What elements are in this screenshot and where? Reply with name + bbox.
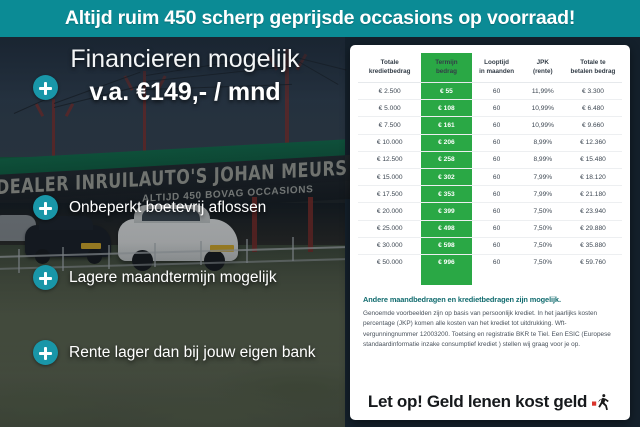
cell-credit-amount: € 7.500 bbox=[358, 117, 421, 134]
table-head: TotalekredietbedragTermijnbedragLooptijd… bbox=[358, 53, 622, 83]
table-row: € 50.000€ 996607,50%€ 59.760 bbox=[358, 254, 622, 271]
table-row: € 17.500€ 353607,99%€ 21.180 bbox=[358, 186, 622, 203]
cell-monthly-amount: € 206 bbox=[421, 134, 471, 151]
cell-total-payable: € 21.180 bbox=[564, 186, 622, 203]
table-col-header-1: Totalekredietbedrag bbox=[358, 53, 421, 83]
plus-icon bbox=[33, 195, 58, 220]
cell-monthly-amount: € 399 bbox=[421, 203, 471, 220]
cell-apr: 8,99% bbox=[522, 134, 564, 151]
table-row: € 5.000€ 1086010,99%€ 6.480 bbox=[358, 100, 622, 117]
cell-term-months: 60 bbox=[472, 254, 522, 271]
cell-monthly-amount: € 108 bbox=[421, 100, 471, 117]
table-col-header-5: Totale tebetalen bedrag bbox=[564, 53, 622, 83]
cell-total-payable: € 35.880 bbox=[564, 237, 622, 254]
cell-term-months: 60 bbox=[472, 237, 522, 254]
table-row: € 20.000€ 399607,50%€ 23.940 bbox=[358, 203, 622, 220]
table-col-header-4: JPK(rente) bbox=[522, 53, 564, 83]
cell-credit-amount: € 50.000 bbox=[358, 254, 421, 271]
cell-total-payable: € 29.880 bbox=[564, 220, 622, 237]
benefit-item-3: Rente lager dan bij jouw eigen bank bbox=[33, 340, 315, 365]
cell-term-months: 60 bbox=[472, 186, 522, 203]
cell-total-payable: € 59.760 bbox=[564, 254, 622, 271]
cell-monthly-amount: € 598 bbox=[421, 237, 471, 254]
left-content-panel: Financieren mogelijk v.a. €149,- / mnd O… bbox=[0, 37, 345, 427]
loan-rates-card: TotalekredietbedragTermijnbedragLooptijd… bbox=[350, 45, 630, 420]
cell-credit-amount: € 30.000 bbox=[358, 237, 421, 254]
promo-banner: Altijd ruim 450 scherp geprijsde occasio… bbox=[0, 0, 640, 37]
cell-monthly-amount: € 258 bbox=[421, 151, 471, 168]
cell-apr: 7,99% bbox=[522, 186, 564, 203]
headline-line-1: Financieren mogelijk bbox=[30, 45, 340, 74]
benefit-item-1: Onbeperkt boetevrij aflossen bbox=[33, 195, 266, 220]
benefit-label-3: Rente lager dan bij jouw eigen bank bbox=[69, 344, 315, 362]
benefit-label-1: Onbeperkt boetevrij aflossen bbox=[69, 199, 266, 217]
cell-total-payable: € 6.480 bbox=[564, 100, 622, 117]
cell-credit-amount: € 2.500 bbox=[358, 83, 421, 100]
cell-term-months: 60 bbox=[472, 151, 522, 168]
table-header-row: TotalekredietbedragTermijnbedragLooptijd… bbox=[358, 53, 622, 83]
cell-total-payable: € 9.660 bbox=[564, 117, 622, 134]
cell-credit-amount: € 10.000 bbox=[358, 134, 421, 151]
loan-rates-table: TotalekredietbedragTermijnbedragLooptijd… bbox=[358, 53, 622, 271]
footnote-body: Genoemde voorbeelden zijn op basis van p… bbox=[363, 309, 617, 351]
cell-apr: 7,50% bbox=[522, 203, 564, 220]
table-row: € 25.000€ 498607,50%€ 29.880 bbox=[358, 220, 622, 237]
plus-icon bbox=[33, 265, 58, 290]
table-row: € 30.000€ 598607,50%€ 35.880 bbox=[358, 237, 622, 254]
cell-apr: 7,50% bbox=[522, 220, 564, 237]
cell-term-months: 60 bbox=[472, 117, 522, 134]
benefit-item-2: Lagere maandtermijn mogelijk bbox=[33, 265, 277, 290]
col-header-line1: Totale bbox=[381, 59, 399, 66]
cell-monthly-amount: € 55 bbox=[421, 83, 471, 100]
cell-monthly-amount: € 353 bbox=[421, 186, 471, 203]
cell-term-months: 60 bbox=[472, 220, 522, 237]
cell-total-payable: € 23.940 bbox=[564, 203, 622, 220]
table-col-header-2: Termijnbedrag bbox=[421, 53, 471, 83]
cell-credit-amount: € 15.000 bbox=[358, 168, 421, 185]
cell-total-payable: € 15.480 bbox=[564, 151, 622, 168]
cell-monthly-amount: € 498 bbox=[421, 220, 471, 237]
col-header-line2: in maanden bbox=[479, 68, 514, 75]
cell-credit-amount: € 12.500 bbox=[358, 151, 421, 168]
headline-block: Financieren mogelijk v.a. €149,- / mnd bbox=[30, 45, 340, 108]
highlight-column-tail bbox=[421, 271, 471, 285]
cell-apr: 7,99% bbox=[522, 168, 564, 185]
cell-term-months: 60 bbox=[472, 134, 522, 151]
col-header-line1: Looptijd bbox=[484, 59, 509, 66]
table-row: € 7.500€ 1616010,99%€ 9.660 bbox=[358, 117, 622, 134]
cell-monthly-amount: € 161 bbox=[421, 117, 471, 134]
benefit-label-2: Lagere maandtermijn mogelijk bbox=[69, 269, 277, 287]
legal-warning: Let op! Geld lenen kost geld bbox=[350, 392, 630, 412]
running-man-exit-icon bbox=[592, 393, 612, 411]
cell-apr: 10,99% bbox=[522, 100, 564, 117]
cell-apr: 10,99% bbox=[522, 117, 564, 134]
col-header-line2: (rente) bbox=[533, 68, 553, 75]
col-header-line2: bedrag bbox=[436, 68, 457, 75]
col-header-line1: JPK bbox=[537, 59, 549, 66]
promo-banner-text: Altijd ruim 450 scherp geprijsde occasio… bbox=[65, 7, 575, 30]
table-row: € 10.000€ 206608,99%€ 12.360 bbox=[358, 134, 622, 151]
cell-apr: 7,50% bbox=[522, 237, 564, 254]
cell-monthly-amount: € 996 bbox=[421, 254, 471, 271]
cell-credit-amount: € 17.500 bbox=[358, 186, 421, 203]
rates-table-wrap: TotalekredietbedragTermijnbedragLooptijd… bbox=[350, 45, 630, 285]
table-row: € 15.000€ 302607,99%€ 18.120 bbox=[358, 168, 622, 185]
cell-total-payable: € 3.300 bbox=[564, 83, 622, 100]
col-header-line1: Totale te bbox=[580, 59, 605, 66]
headline-line-2: v.a. €149,- / mnd bbox=[30, 76, 340, 109]
col-header-line1: Termijn bbox=[435, 59, 457, 66]
table-col-header-3: Looptijdin maanden bbox=[472, 53, 522, 83]
cell-monthly-amount: € 302 bbox=[421, 168, 471, 185]
cell-apr: 7,50% bbox=[522, 254, 564, 271]
cell-term-months: 60 bbox=[472, 168, 522, 185]
cell-term-months: 60 bbox=[472, 203, 522, 220]
legal-warning-text: Let op! Geld lenen kost geld bbox=[368, 392, 587, 412]
cell-credit-amount: € 20.000 bbox=[358, 203, 421, 220]
cell-credit-amount: € 25.000 bbox=[358, 220, 421, 237]
footnote-title: Andere maandbedragen en kredietbedragen … bbox=[363, 295, 617, 304]
footnote-block: Andere maandbedragen en kredietbedragen … bbox=[350, 285, 630, 351]
cell-total-payable: € 12.360 bbox=[564, 134, 622, 151]
table-body: € 2.500€ 556011,99%€ 3.300€ 5.000€ 10860… bbox=[358, 83, 622, 272]
cell-term-months: 60 bbox=[472, 83, 522, 100]
cell-total-payable: € 18.120 bbox=[564, 168, 622, 185]
cell-credit-amount: € 5.000 bbox=[358, 100, 421, 117]
cell-apr: 11,99% bbox=[522, 83, 564, 100]
col-header-line2: kredietbedrag bbox=[369, 68, 411, 75]
col-header-line2: betalen bedrag bbox=[571, 68, 616, 75]
headline-plus-badge-wrap bbox=[33, 75, 58, 100]
table-row: € 2.500€ 556011,99%€ 3.300 bbox=[358, 83, 622, 100]
plus-icon bbox=[33, 340, 58, 365]
cell-term-months: 60 bbox=[472, 100, 522, 117]
plus-icon bbox=[33, 75, 58, 100]
cell-apr: 8,99% bbox=[522, 151, 564, 168]
table-row: € 12.500€ 258608,99%€ 15.480 bbox=[358, 151, 622, 168]
